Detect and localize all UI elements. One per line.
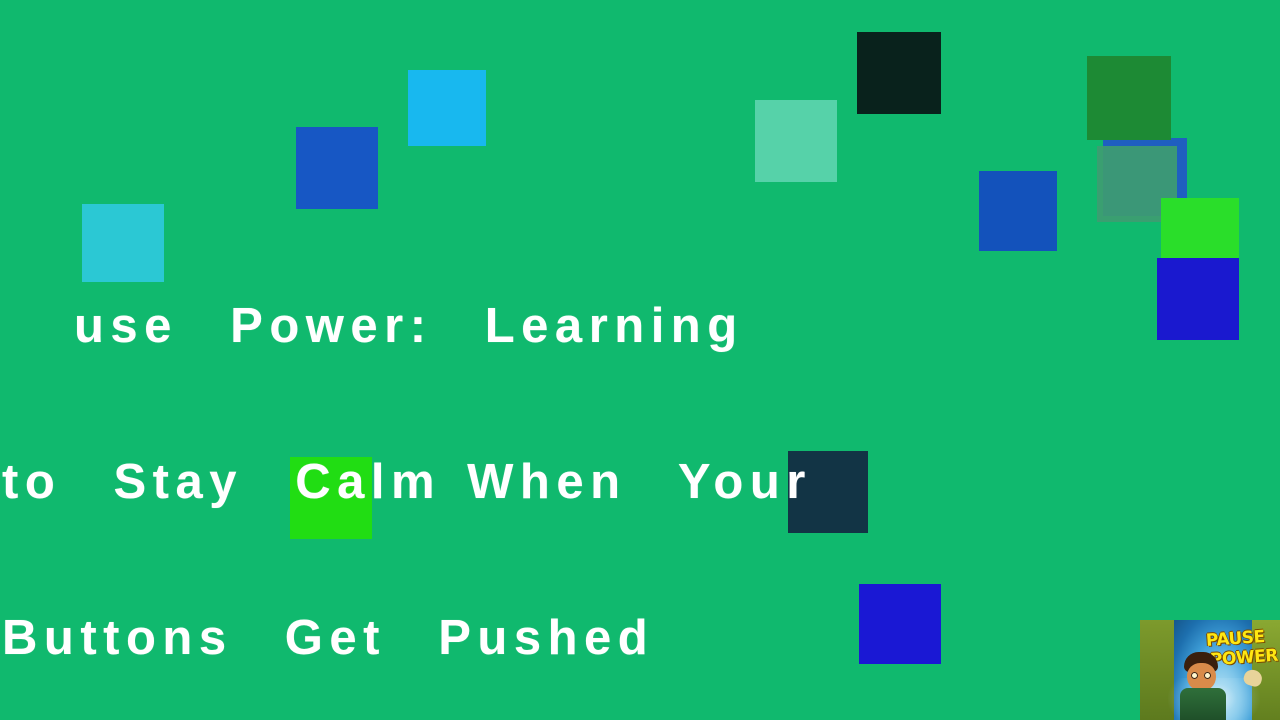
square-near-black bbox=[857, 32, 941, 114]
title-line-2: to Stay Calm When Your bbox=[0, 456, 1280, 508]
thumbnail-canvas: use Power: Learning to Stay Calm When Yo… bbox=[0, 0, 1280, 720]
square-dark-green bbox=[1087, 56, 1171, 140]
boy-body-shape bbox=[1180, 688, 1226, 720]
book-cover-boy-illustration bbox=[1178, 652, 1232, 720]
title-line-1: use Power: Learning bbox=[0, 300, 1280, 352]
square-cyan-bright bbox=[408, 70, 486, 146]
boy-eye-left bbox=[1191, 672, 1198, 679]
title-line-3: Buttons Get Pushed bbox=[0, 612, 1280, 664]
boy-eye-right bbox=[1204, 672, 1211, 679]
book-cover-thumbnail[interactable]: PAUSE POWER bbox=[1140, 620, 1280, 720]
video-title-overlay: use Power: Learning to Stay Calm When Yo… bbox=[0, 196, 1280, 720]
square-pale-teal bbox=[755, 100, 837, 182]
